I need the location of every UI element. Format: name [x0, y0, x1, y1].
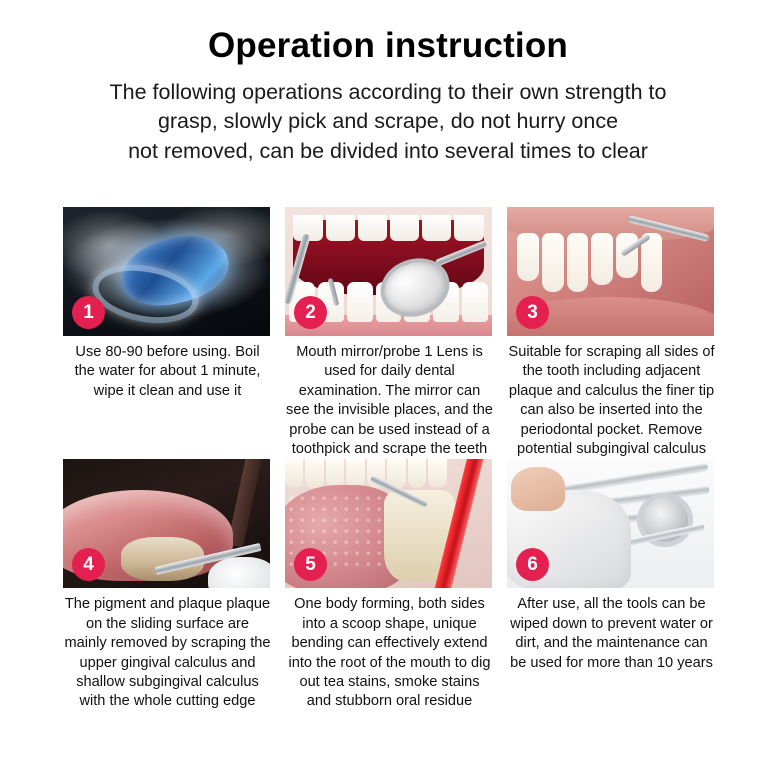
- step-card-3: 3 Suitable for scraping all sides of the…: [507, 207, 716, 459]
- step-card-5: 5 One body forming, both sides into a sc…: [285, 459, 494, 711]
- hand-shape: [511, 467, 565, 511]
- upper-teeth-shape: [285, 459, 446, 487]
- step-card-6: 6 After use, all the tools can be wiped …: [507, 459, 716, 711]
- step-caption-6: After use, all the tools can be wiped do…: [507, 595, 716, 673]
- page-header: Operation instruction The following oper…: [0, 26, 776, 166]
- step-card-2: 2 Mouth mirror/probe 1 Lens is used for …: [285, 207, 494, 459]
- page-title: Operation instruction: [0, 26, 776, 66]
- step-caption-5: One body forming, both sides into a scoo…: [285, 595, 494, 711]
- step-image-6: 6: [507, 459, 714, 588]
- operation-instruction-page: Operation instruction The following oper…: [0, 0, 776, 772]
- step-caption-3: Suitable for scraping all sides of the t…: [507, 343, 716, 459]
- step-card-4: 4 The pigment and plaque plaque on the s…: [63, 459, 272, 711]
- step-caption-1: Use 80-90 before using. Boil the water f…: [63, 343, 272, 401]
- step-image-4: 4: [63, 459, 270, 588]
- steps-grid: 1 Use 80-90 before using. Boil the water…: [63, 207, 717, 712]
- step-image-1: 1: [63, 207, 270, 336]
- page-subtitle: The following operations according to th…: [0, 78, 776, 166]
- step-image-2: 2: [285, 207, 492, 336]
- retractor-shape: [228, 459, 263, 547]
- step-caption-4: The pigment and plaque plaque on the sli…: [63, 595, 272, 711]
- step-caption-2: Mouth mirror/probe 1 Lens is used for da…: [285, 343, 494, 459]
- upper-teeth-shape: [293, 215, 483, 241]
- subtitle-line-3: not removed, can be divided into several…: [38, 137, 738, 166]
- step-image-3: 3: [507, 207, 714, 336]
- step-image-5: 5: [285, 459, 492, 588]
- subtitle-line-1: The following operations according to th…: [38, 78, 738, 107]
- gauze-shape: [208, 557, 270, 588]
- step-badge-2: 2: [294, 296, 327, 329]
- subtitle-line-2: grasp, slowly pick and scrape, do not hu…: [38, 107, 738, 136]
- step-badge-1: 1: [72, 296, 105, 329]
- step-card-1: 1 Use 80-90 before using. Boil the water…: [63, 207, 272, 459]
- step-badge-3: 3: [516, 296, 549, 329]
